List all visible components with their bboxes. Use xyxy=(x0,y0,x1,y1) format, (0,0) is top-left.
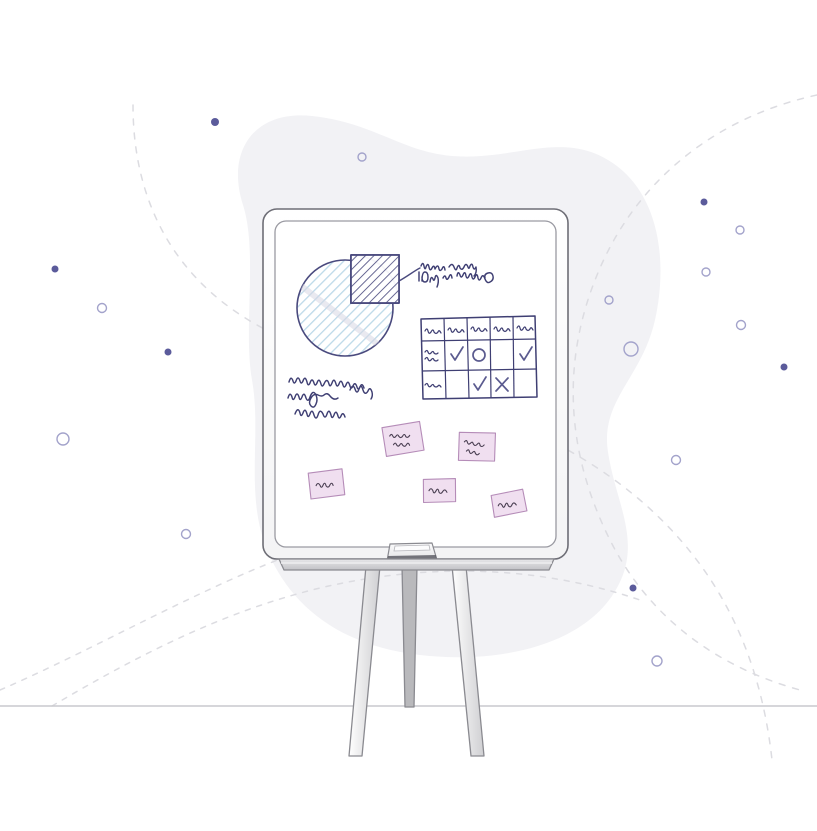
easel-leg-back xyxy=(402,566,417,707)
pie-exploded-slice xyxy=(351,255,399,303)
whiteboard[interactable] xyxy=(263,209,568,559)
filled-dot xyxy=(211,118,219,126)
filled-dot xyxy=(701,199,708,206)
filled-dot xyxy=(630,585,637,592)
filled-dot xyxy=(165,349,172,356)
easel-tray-surface xyxy=(279,559,554,570)
eraser-top-highlight xyxy=(394,545,430,551)
whiteboard-easel-illustration xyxy=(0,0,817,831)
sticky-note-paper xyxy=(456,429,497,464)
sticky-note-paper xyxy=(308,469,345,499)
sticky-note-2[interactable] xyxy=(456,429,497,464)
sticky-note-paper xyxy=(423,477,457,503)
sticky-note-3[interactable] xyxy=(308,469,345,499)
sticky-note-1[interactable] xyxy=(382,421,425,456)
hand-drawn-checklist-table xyxy=(421,316,537,399)
filled-dot xyxy=(52,266,59,273)
sticky-note-4[interactable] xyxy=(423,477,457,503)
sticky-note-paper xyxy=(382,421,425,456)
eraser[interactable] xyxy=(387,543,437,561)
easel-tray xyxy=(279,559,554,570)
illustration-stage: Whiteboard easel illustration xyxy=(0,0,817,831)
filled-dot xyxy=(781,364,788,371)
